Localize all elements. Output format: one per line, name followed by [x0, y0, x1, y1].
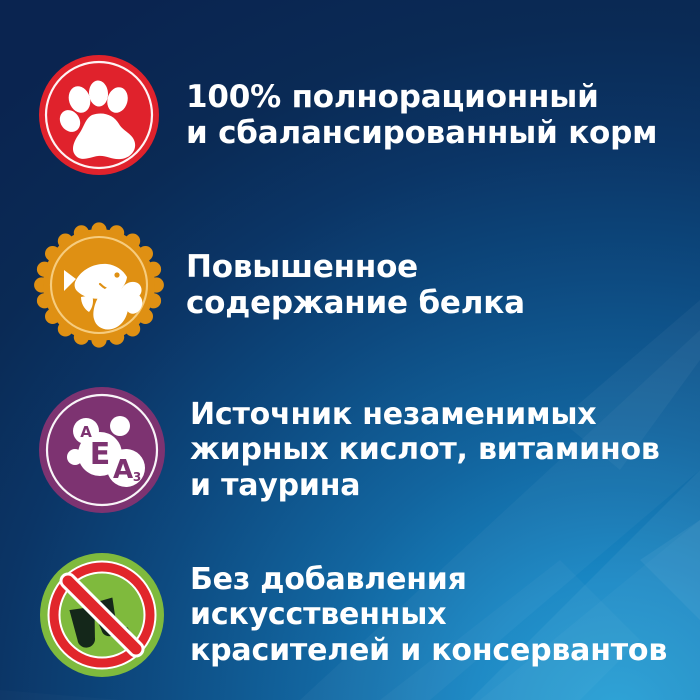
- feature-row-no-additives: Без добавления искусственных красителей …: [36, 545, 686, 685]
- badge-complete-balanced: [36, 52, 162, 178]
- vitamin-label-a-subscript: 3: [133, 470, 141, 484]
- feature-text-vitamins: Источник незаменимых жирных кислот, вита…: [190, 397, 660, 502]
- feature-list: 100% полнорационный и сбалансированный к…: [0, 0, 700, 700]
- badge-no-additives: [36, 549, 168, 681]
- vitamin-label-e: E: [90, 437, 111, 472]
- feature-text-no-additives: Без добавления искусственных красителей …: [190, 562, 686, 667]
- molecule-dot-top: [110, 416, 130, 436]
- feature-row-vitamins: A E A 3 Источник незаменимых жирных кисл…: [36, 380, 686, 520]
- feature-text-complete-balanced: 100% полнорационный и сбалансированный к…: [186, 79, 657, 152]
- feature-row-complete-balanced: 100% полнорационный и сбалансированный к…: [36, 52, 686, 178]
- feature-row-high-protein: Повышенное содержание белка: [36, 222, 686, 348]
- benefits-banner: 100% полнорационный и сбалансированный к…: [0, 0, 700, 700]
- feature-text-high-protein: Повышенное содержание белка: [186, 249, 525, 322]
- badge-high-protein: [36, 222, 162, 348]
- badge-vitamins: A E A 3: [36, 384, 168, 516]
- vitamin-label-a: A: [113, 455, 133, 485]
